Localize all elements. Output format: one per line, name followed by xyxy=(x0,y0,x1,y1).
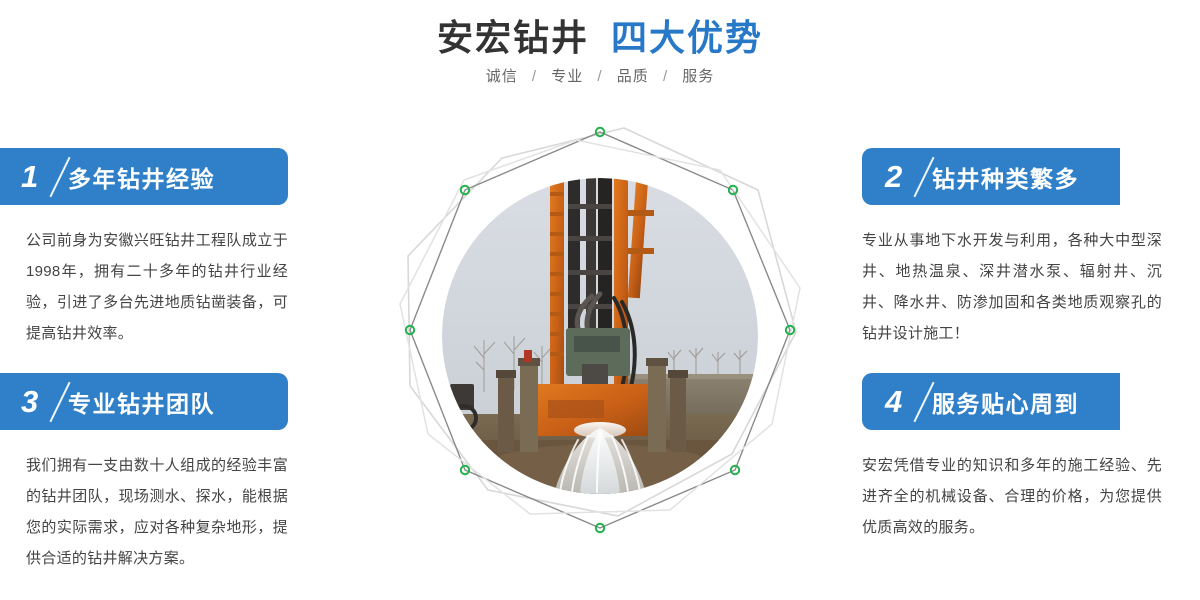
photo-inner xyxy=(442,178,758,494)
subtitle-item-0: 诚信 xyxy=(486,68,518,85)
feature-card-2-header: 2 钻井种类繁多 xyxy=(862,148,1120,205)
subtitle-item-3: 服务 xyxy=(682,68,714,85)
drilling-rig-photo xyxy=(442,178,758,494)
promo-banner: 安宏钻井四大优势 诚信 / 专业 / 品质 / 服务 xyxy=(0,0,1200,600)
feature-card-1-body: 公司前身为安徽兴旺钻井工程队成立于1998年，拥有二十多年的钻井行业经验，引进了… xyxy=(26,225,288,349)
feature-card-3-number: 3 xyxy=(20,386,38,417)
title-accent-text: 四大优势 xyxy=(611,17,763,58)
feature-card-1-number: 1 xyxy=(20,161,38,192)
feature-card-2-number: 2 xyxy=(884,161,902,192)
feature-card-4-header: 4 服务贴心周到 xyxy=(862,373,1120,430)
feature-card-1-number-badge: 1 xyxy=(20,157,66,197)
feature-card-2-title: 钻井种类繁多 xyxy=(932,160,1079,194)
feature-card-3-body: 我们拥有一支由数十人组成的经验丰富的钻井团队，现场测水、探水，能根据您的实际需求… xyxy=(26,450,288,574)
feature-card-2-number-badge: 2 xyxy=(884,157,930,197)
feature-card-1-title: 多年钻井经验 xyxy=(68,160,215,194)
subtitle-item-2: 品质 xyxy=(617,68,649,85)
feature-card-3-title: 专业钻井团队 xyxy=(68,385,215,419)
feature-card-2-body: 专业从事地下水开发与利用，各种大中型深井、地热温泉、深井潜水泵、辐射井、沉井、降… xyxy=(862,225,1162,349)
feature-card-3[interactable]: 3 专业钻井团队 我们拥有一支由数十人组成的经验丰富的钻井团队，现场测水、探水，… xyxy=(0,373,288,574)
page-title: 安宏钻井四大优势 xyxy=(0,16,1200,60)
feature-card-4[interactable]: 4 服务贴心周到 安宏凭借专业的知识和多年的施工经验、先进齐全的机械设备、合理的… xyxy=(862,373,1200,543)
subtitle-separator-1: / xyxy=(588,68,611,85)
feature-card-4-body: 安宏凭借专业的知识和多年的施工经验、先进齐全的机械设备、合理的价格，为您提供优质… xyxy=(862,450,1162,543)
feature-card-4-number-badge: 4 xyxy=(884,382,930,422)
subtitle-separator-2: / xyxy=(654,68,677,85)
feature-card-2[interactable]: 2 钻井种类繁多 专业从事地下水开发与利用，各种大中型深井、地热温泉、深井潜水泵… xyxy=(862,148,1200,349)
feature-card-1-header: 1 多年钻井经验 xyxy=(0,148,288,205)
feature-card-4-title: 服务贴心周到 xyxy=(932,385,1079,419)
subtitle-item-1: 专业 xyxy=(551,68,583,85)
feature-card-3-number-badge: 3 xyxy=(20,382,66,422)
subtitle-separator-0: / xyxy=(523,68,546,85)
subtitle: 诚信 / 专业 / 品质 / 服务 xyxy=(0,66,1200,88)
feature-card-4-number: 4 xyxy=(884,386,902,417)
feature-card-3-header: 3 专业钻井团队 xyxy=(0,373,288,430)
title-main-text: 安宏钻井 xyxy=(437,17,589,58)
feature-card-1[interactable]: 1 多年钻井经验 公司前身为安徽兴旺钻井工程队成立于1998年，拥有二十多年的钻… xyxy=(0,148,288,349)
header: 安宏钻井四大优势 诚信 / 专业 / 品质 / 服务 xyxy=(0,0,1200,110)
